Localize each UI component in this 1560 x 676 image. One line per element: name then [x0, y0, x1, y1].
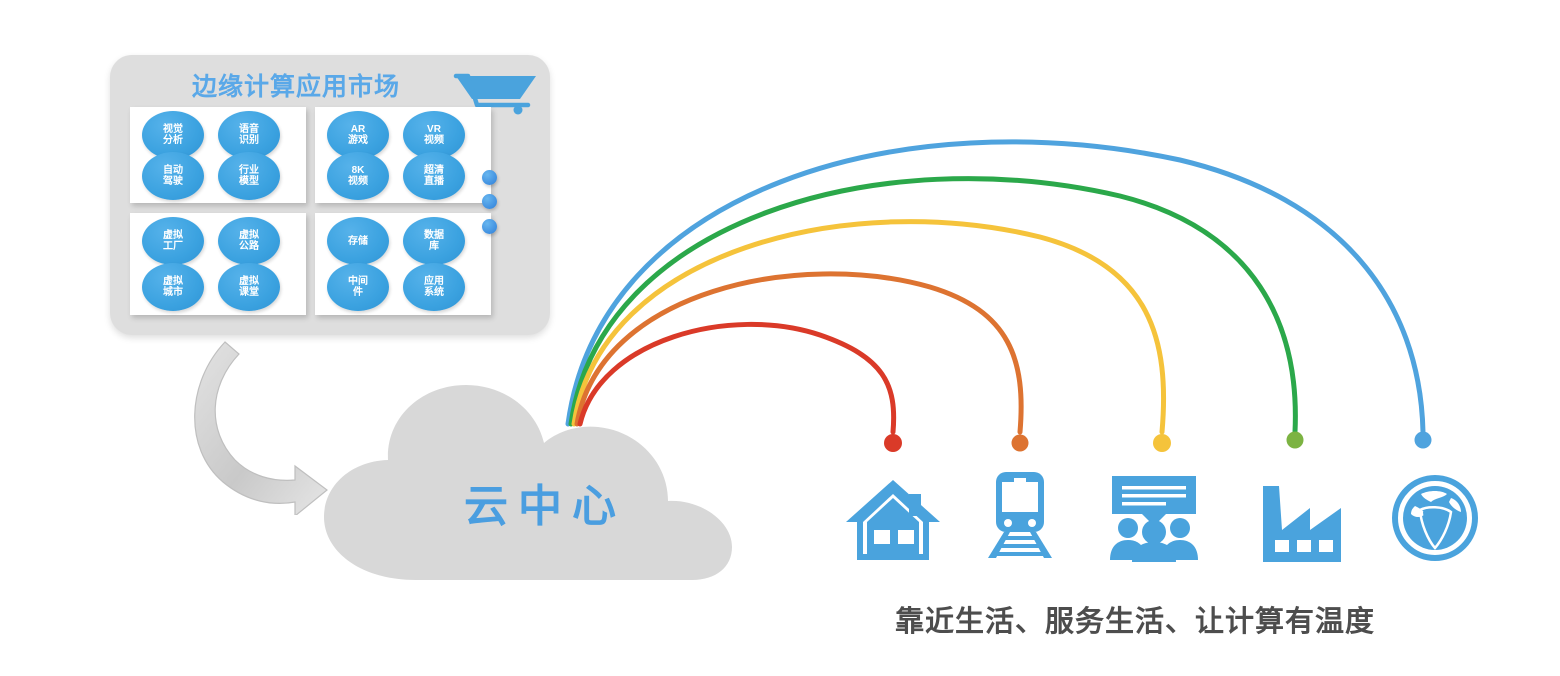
app-bubble[interactable]: 存储 [327, 217, 389, 265]
app-bubble[interactable]: 虚拟 公路 [218, 217, 280, 265]
app-bubble[interactable]: 行业 模型 [218, 152, 280, 200]
market-card-virtual[interactable]: 虚拟 工厂 虚拟 公路 虚拟 城市 虚拟 课堂 [130, 213, 306, 315]
app-bubble[interactable]: 超清 直播 [403, 152, 465, 200]
market-card-media[interactable]: AR 游戏 VR 视频 8K 视频 超清 直播 [315, 107, 491, 203]
cloud-center-label: 云中心 [320, 470, 760, 534]
app-bubble[interactable]: 虚拟 城市 [142, 263, 204, 311]
home-icon[interactable] [843, 472, 943, 564]
page-title: 边缘计算应用市场 [136, 67, 456, 103]
tagline-text: 靠近生活、服务生活、让计算有温度 [810, 598, 1460, 640]
diagram-canvas: 边缘计算应用市场 视觉 分析 语音 识别 自动 驾驶 行业 模型 AR 游戏 V… [0, 0, 1560, 676]
dot-orange [1012, 435, 1029, 452]
dot-blue [1415, 432, 1432, 449]
arc-endpoint-dots [884, 432, 1432, 453]
factory-icon[interactable] [1255, 478, 1355, 570]
dot-red [884, 434, 902, 452]
market-card-platform[interactable]: 存储 数据 库 中间 件 应用 系统 [315, 213, 491, 315]
app-bubble[interactable]: 8K 视频 [327, 152, 389, 200]
app-bubble[interactable]: 自动 驾驶 [142, 152, 204, 200]
pager-dot[interactable] [482, 219, 497, 234]
app-bubble[interactable]: 中间 件 [327, 263, 389, 311]
app-bubble[interactable]: 应用 系统 [403, 263, 465, 311]
globe-icon[interactable] [1385, 472, 1485, 564]
dot-green [1287, 432, 1304, 449]
app-bubble[interactable]: 虚拟 工厂 [142, 217, 204, 265]
app-bubble[interactable]: 虚拟 课堂 [218, 263, 280, 311]
dot-yellow [1153, 434, 1171, 452]
train-icon[interactable] [970, 468, 1070, 560]
app-bubble[interactable]: 数据 库 [403, 217, 465, 265]
market-card-ai[interactable]: 视觉 分析 语音 识别 自动 驾驶 行业 模型 [130, 107, 306, 203]
pager-dot[interactable] [482, 194, 497, 209]
pager-dot[interactable] [482, 170, 497, 185]
people-icon[interactable] [1104, 472, 1204, 564]
